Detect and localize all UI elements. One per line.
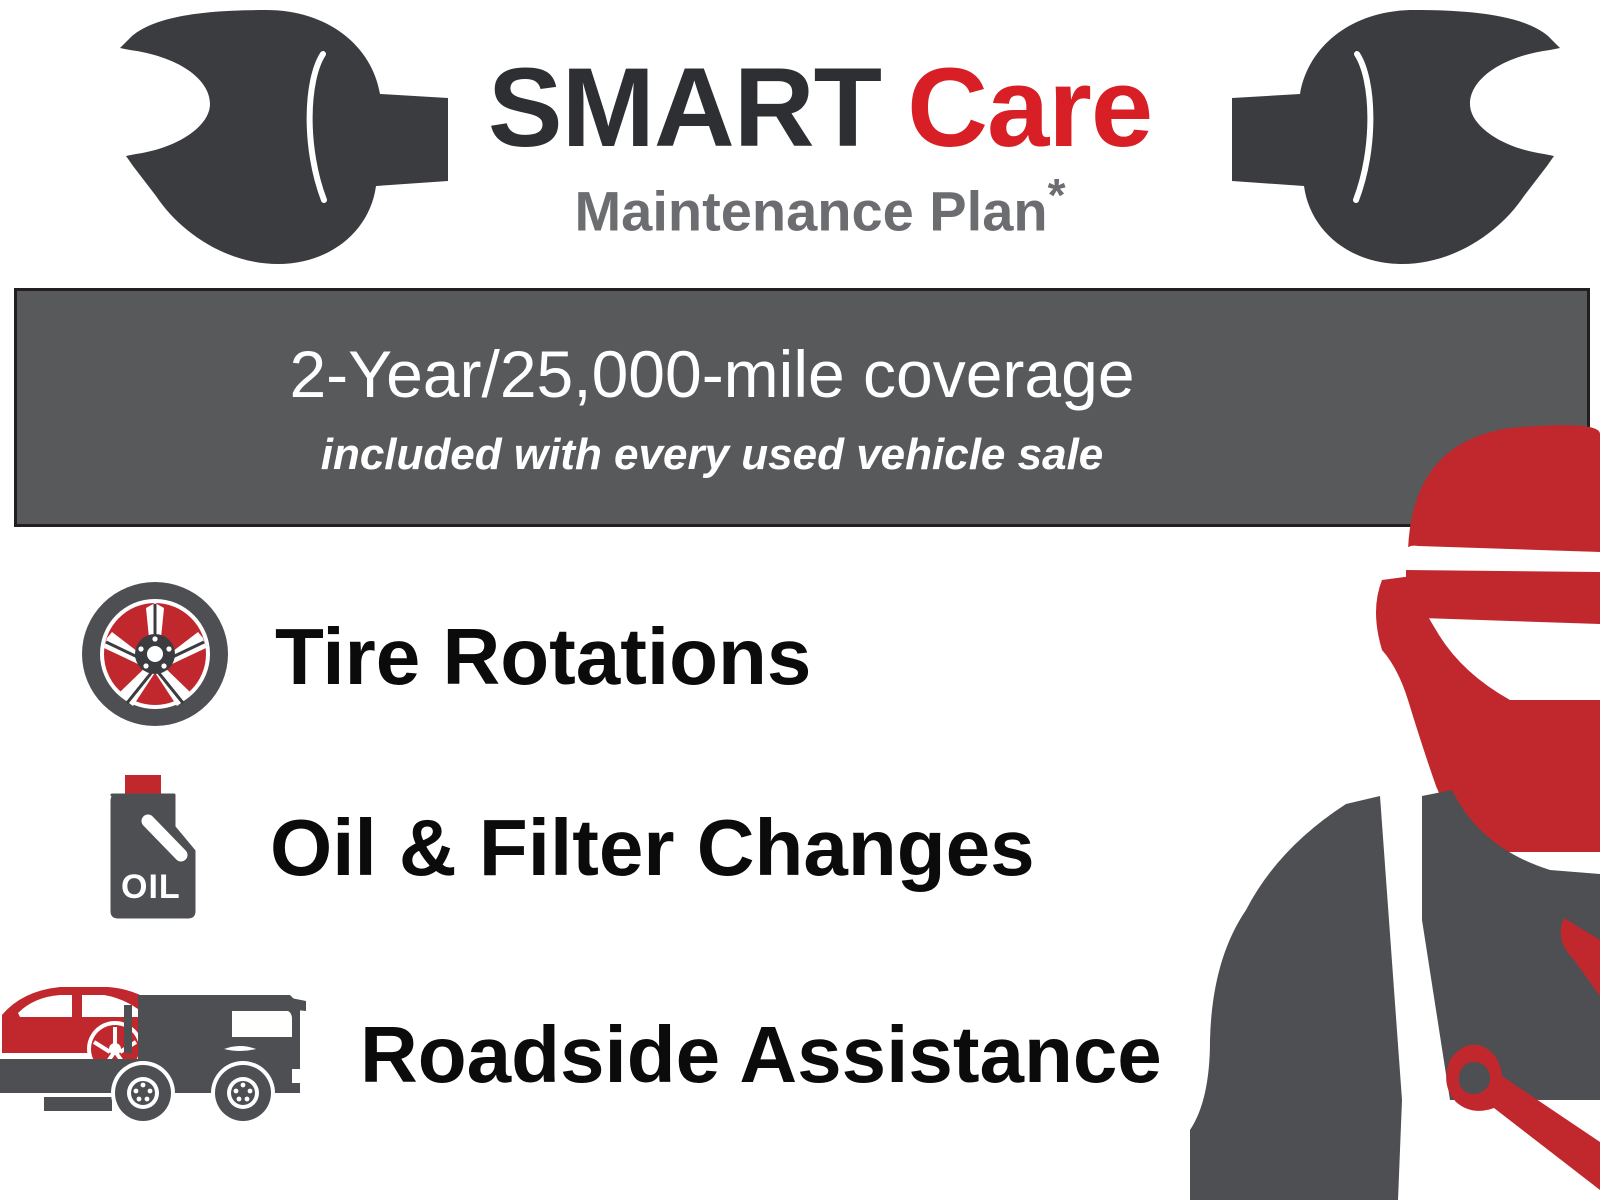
brand-logo: SMARTCare Maintenance Plan* — [400, 52, 1240, 240]
feature-item-tire-rotations: Tire Rotations — [80, 580, 811, 733]
feature-label: Tire Rotations — [275, 617, 811, 697]
wrench-icon — [1232, 6, 1562, 268]
tire-wheel-icon — [80, 580, 230, 733]
feature-item-oil-filter-changes: OIL Oil & Filter Changes — [98, 765, 1035, 930]
banner-headline: 2-Year/25,000-mile coverage — [289, 336, 1134, 412]
logo-wordmark: SMARTCare — [400, 52, 1240, 164]
smart-care-poster: SMARTCare Maintenance Plan* 2-Year/25,00… — [0, 0, 1600, 1200]
feature-item-roadside-assistance: Roadside Assistance — [0, 975, 1162, 1135]
tow-truck-icon — [0, 975, 330, 1135]
feature-label: Oil & Filter Changes — [270, 808, 1035, 888]
oil-bottle-label: OIL — [121, 868, 181, 906]
logo-asterisk: * — [1048, 169, 1066, 221]
oil-bottle-icon: OIL — [98, 765, 208, 930]
coverage-banner: 2-Year/25,000-mile coverage included wit… — [14, 288, 1590, 527]
logo-subtitle: Maintenance Plan* — [400, 172, 1240, 240]
logo-subtitle-text: Maintenance Plan — [575, 180, 1048, 243]
wrench-icon — [118, 6, 448, 268]
logo-word-primary: SMART — [488, 45, 881, 170]
logo-word-accent: Care — [907, 45, 1152, 170]
feature-label: Roadside Assistance — [360, 1015, 1162, 1095]
banner-subhead: included with every used vehicle sale — [321, 430, 1104, 480]
